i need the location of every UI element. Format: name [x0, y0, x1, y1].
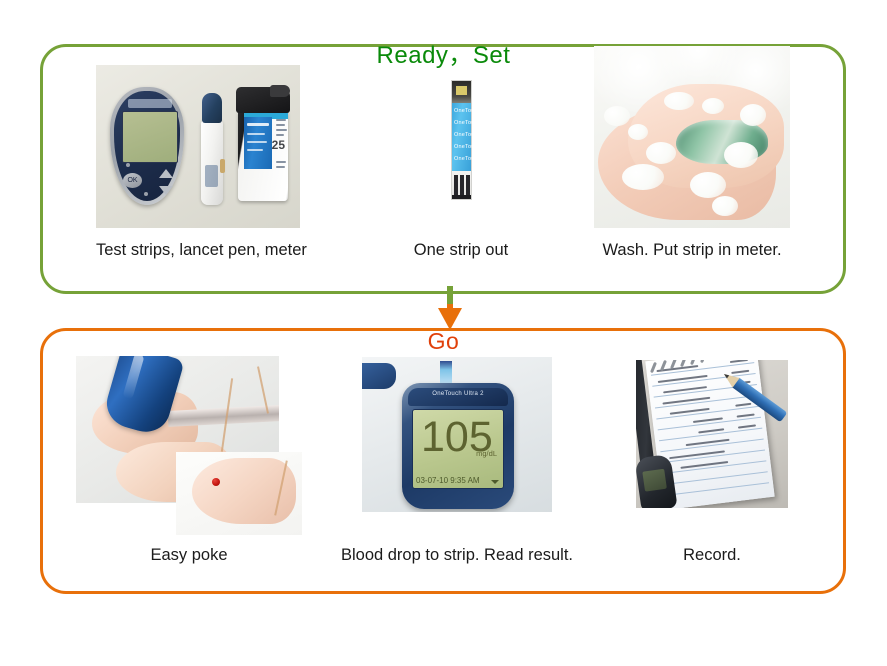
strip-brand-text: OneTouch Ultra: [454, 133, 488, 139]
meter-lcd-screen: [122, 111, 178, 163]
strip-contact-bar: [454, 175, 458, 197]
strip-brand-text: OneTouch Ultra: [454, 145, 488, 151]
vial-cap-tab: [270, 85, 290, 97]
meter-ok-button: OK: [123, 173, 142, 188]
glucose-reading-unit: mg/dL: [476, 450, 497, 458]
meter-brand-label: [128, 99, 172, 108]
glucose-meter-graphic: OK: [110, 87, 184, 205]
meter-up-arrow-icon: [159, 169, 173, 178]
strip-brand-text: OneTouch Ultra: [454, 121, 488, 127]
caption-easy-poke: Easy poke: [76, 547, 302, 564]
downward-arrow-icon: [434, 286, 466, 332]
vial-band-text: [247, 123, 269, 126]
caption-record: Record.: [636, 547, 788, 564]
soap-suds: [702, 98, 724, 114]
vial-label-line: [276, 166, 285, 168]
meter-down-arrow-icon: [159, 186, 173, 195]
meter-top-bezel: OneTouch Ultra 2: [408, 388, 508, 406]
lancet-cap: [202, 93, 222, 123]
lancet-logo: [205, 165, 218, 187]
soap-suds: [724, 142, 758, 168]
caption-one-strip-out: One strip out: [380, 242, 542, 259]
logbook-record-photo: [636, 360, 788, 508]
vial-label-line: [276, 134, 284, 136]
background-object: [362, 363, 396, 389]
pen-highlight: [122, 356, 144, 400]
caption-wash-put-strip-in-meter: Wash. Put strip in meter.: [582, 242, 802, 259]
strip-contacts-area: [452, 171, 471, 199]
soap-suds: [604, 106, 630, 126]
lancet-clip: [220, 159, 225, 173]
meter-indicator-dot: [126, 163, 130, 167]
blood-drop-fingertip-photo: [176, 452, 302, 535]
meter-lcd-screen: [642, 469, 667, 492]
caption-blood-drop-read-result: Blood drop to strip. Read result.: [300, 547, 614, 564]
strip-sample-tip: [452, 81, 471, 103]
vial-label-line: [276, 119, 286, 121]
caption-test-strips-lancet-meter: Test strips, lancet pen, meter: [96, 242, 300, 259]
glucose-meter-graphic: OneTouch Ultra 2 105 mg/dL 03-07-10 9:35…: [402, 383, 514, 509]
vial-label-line: [276, 161, 286, 163]
strip-contact-bar: [460, 175, 464, 197]
strip-brand-text: OneTouch Ultra: [454, 109, 488, 115]
meter-reading-photo: OneTouch Ultra 2 105 mg/dL 03-07-10 9:35…: [362, 357, 552, 512]
meter-indicator-dot: [144, 192, 148, 196]
ready-set-title: Ready，Set: [0, 44, 887, 68]
vial-strip-count: 25: [272, 139, 285, 151]
strip-contact-bar: [466, 175, 470, 197]
meter-lancet-strips-photo: OK 25: [96, 65, 300, 228]
soap-suds: [622, 164, 664, 190]
soap-suds: [646, 142, 676, 164]
hand-washing-photo: [594, 46, 790, 228]
test-strip-vial-graphic: 25: [236, 87, 290, 202]
single-test-strip-photo: OneTouch Ultra OneTouch Ultra OneTouch U…: [434, 80, 488, 200]
soap-suds: [740, 104, 766, 126]
glucose-reading-timestamp: 03-07-10 9:35 AM: [416, 477, 480, 485]
strip-base-edge: [452, 195, 471, 199]
strip-tip-notch: [456, 86, 467, 95]
strip-brand-text: OneTouch Ultra: [454, 157, 488, 163]
blood-drop: [212, 478, 220, 486]
vial-band-text: [247, 141, 267, 143]
test-strip-graphic: OneTouch Ultra OneTouch Ultra OneTouch U…: [451, 80, 472, 200]
meter-brand-label: OneTouch Ultra 2: [408, 391, 508, 399]
vial-label-line: [276, 124, 285, 126]
vial-label-line: [276, 129, 287, 131]
soap-suds: [664, 92, 694, 110]
go-title: Go: [0, 330, 887, 353]
vial-band-text: [247, 133, 265, 135]
vial-band-text: [247, 149, 263, 151]
meter-lcd-screen: 105 mg/dL 03-07-10 9:35 AM: [412, 409, 504, 489]
soap-suds: [712, 196, 738, 216]
lancet-pen-graphic: [200, 93, 224, 205]
strip-blue-body: OneTouch Ultra OneTouch Ultra OneTouch U…: [452, 103, 471, 173]
meter-face: OK: [114, 91, 180, 201]
soap-suds: [690, 172, 726, 198]
inserted-test-strip: [440, 361, 452, 383]
soap-suds: [628, 124, 648, 140]
chevron-down-icon: [491, 480, 499, 484]
